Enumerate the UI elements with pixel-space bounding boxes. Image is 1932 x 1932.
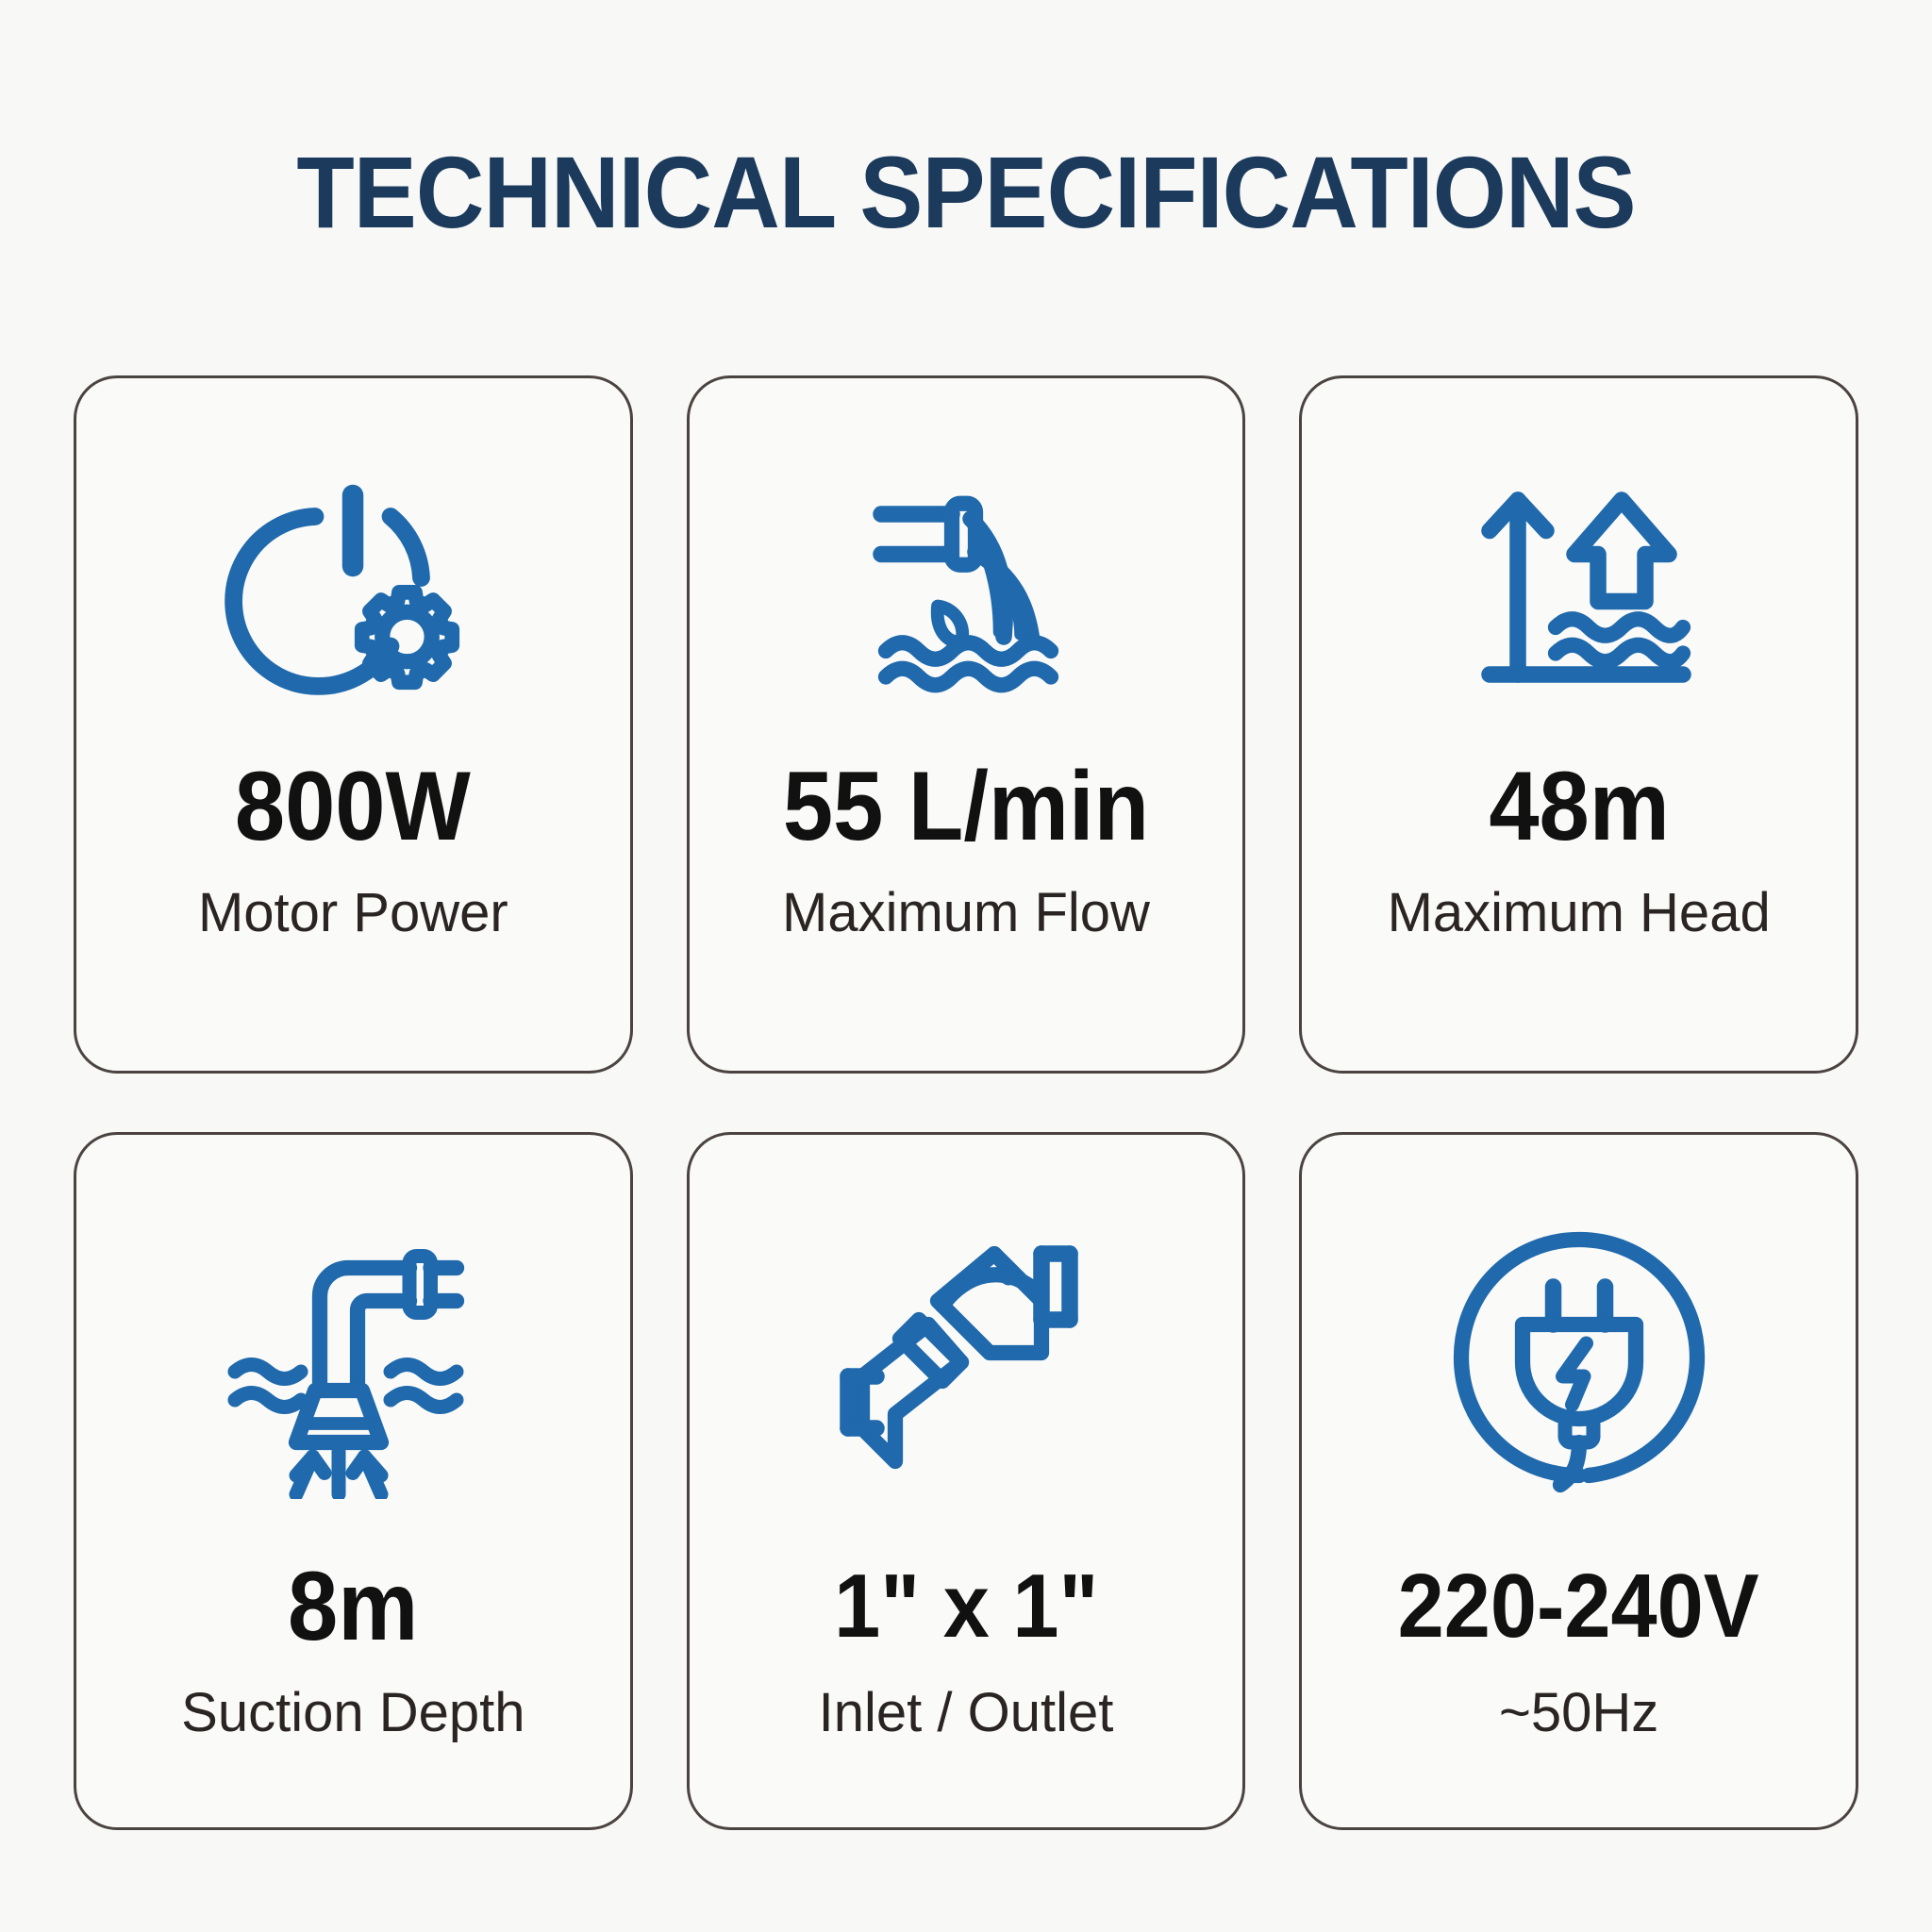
spec-card-motor-power: 800W Motor Power [74, 375, 633, 1074]
spec-card-voltage: 220-240V ~50Hz [1299, 1132, 1858, 1830]
technical-specifications-page: TECHNICAL SPECIFICATIONS [0, 0, 1932, 1932]
spec-value: 1" x 1" [834, 1556, 1098, 1657]
spec-card-grid: 800W Motor Power [74, 375, 1858, 1830]
page-title: TECHNICAL SPECIFICATIONS [68, 140, 1865, 245]
spec-value: 8m [288, 1556, 418, 1657]
spec-label: Motor Power [198, 882, 508, 944]
spec-label: ~50Hz [1499, 1682, 1658, 1744]
spec-value: 220-240V [1398, 1556, 1759, 1657]
suction-intake-icon [211, 1216, 494, 1499]
spec-card-suction-depth: 8m Suction Depth [74, 1132, 633, 1830]
spec-label: Suction Depth [181, 1682, 525, 1744]
spec-label: Inlet / Outlet [819, 1682, 1114, 1744]
power-gear-icon [211, 448, 494, 731]
spec-label: Maximum Flow [782, 882, 1150, 944]
spec-card-inlet-outlet: 1" x 1" Inlet / Outlet [687, 1132, 1246, 1830]
pipe-connector-icon [824, 1216, 1108, 1499]
power-plug-icon [1438, 1216, 1721, 1499]
head-height-arrows-icon [1438, 448, 1721, 731]
water-flow-pipe-icon [824, 448, 1108, 731]
spec-label: Maximum Head [1388, 882, 1771, 944]
spec-value: 55 L/min [783, 756, 1149, 858]
spec-card-maximum-flow: 55 L/min Maximum Flow [687, 375, 1246, 1074]
spec-value: 800W [235, 756, 471, 858]
spec-card-maximum-head: 48m Maximum Head [1299, 375, 1858, 1074]
spec-value: 48m [1489, 756, 1670, 858]
